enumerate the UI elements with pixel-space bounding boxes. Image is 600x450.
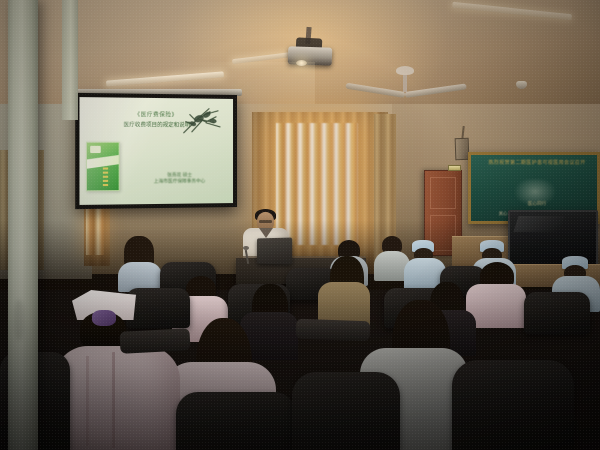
tv-screen-glare (513, 216, 564, 232)
laptop-icon[interactable] (257, 238, 292, 265)
chair[interactable] (292, 372, 400, 450)
chair-armrest (296, 319, 371, 342)
slide-handbook-graphic (86, 142, 120, 192)
chair[interactable] (524, 292, 590, 334)
projector-lens-icon (296, 60, 307, 66)
projection-screen[interactable]: 《医疗费保险》 医疗收费项目的规定和说明 (75, 93, 237, 209)
chair-armrest (119, 328, 190, 354)
projector-icon (288, 46, 333, 66)
glasses-icon (259, 220, 272, 223)
banner-sub-text: 医心同行 (471, 201, 600, 207)
conference-room-photo: 《医疗费保险》 医疗收费项目的规定和说明 (0, 0, 600, 450)
support-pillar (8, 0, 38, 450)
slide-presenter-org: 上海市医疗保障事务中心 (126, 179, 232, 186)
banner-arc-text: 热烈祝贺第二期医护患可视医用会议召开 (477, 159, 597, 179)
slide-presenter-info: 张燕花 硕士 上海市医疗保障事务中心 (126, 173, 232, 186)
chair[interactable] (126, 288, 190, 328)
uniform-seam (86, 356, 89, 446)
bamboo-icon (176, 102, 228, 137)
chair[interactable] (452, 360, 574, 450)
rear-pillar (62, 0, 78, 120)
chair[interactable] (176, 392, 296, 450)
door-panel (430, 177, 456, 209)
pillar-smudge (14, 300, 24, 340)
uniform-seam (112, 352, 115, 448)
exit-sign-icon (448, 165, 461, 171)
ceiling-fan-motor (396, 66, 414, 75)
presentation-slide: 《医疗费保险》 医疗收费项目的规定和说明 (79, 97, 233, 205)
microphone-icon (243, 246, 249, 250)
slide-handbook-text (103, 167, 108, 188)
slide-handbook-chip (90, 146, 101, 153)
